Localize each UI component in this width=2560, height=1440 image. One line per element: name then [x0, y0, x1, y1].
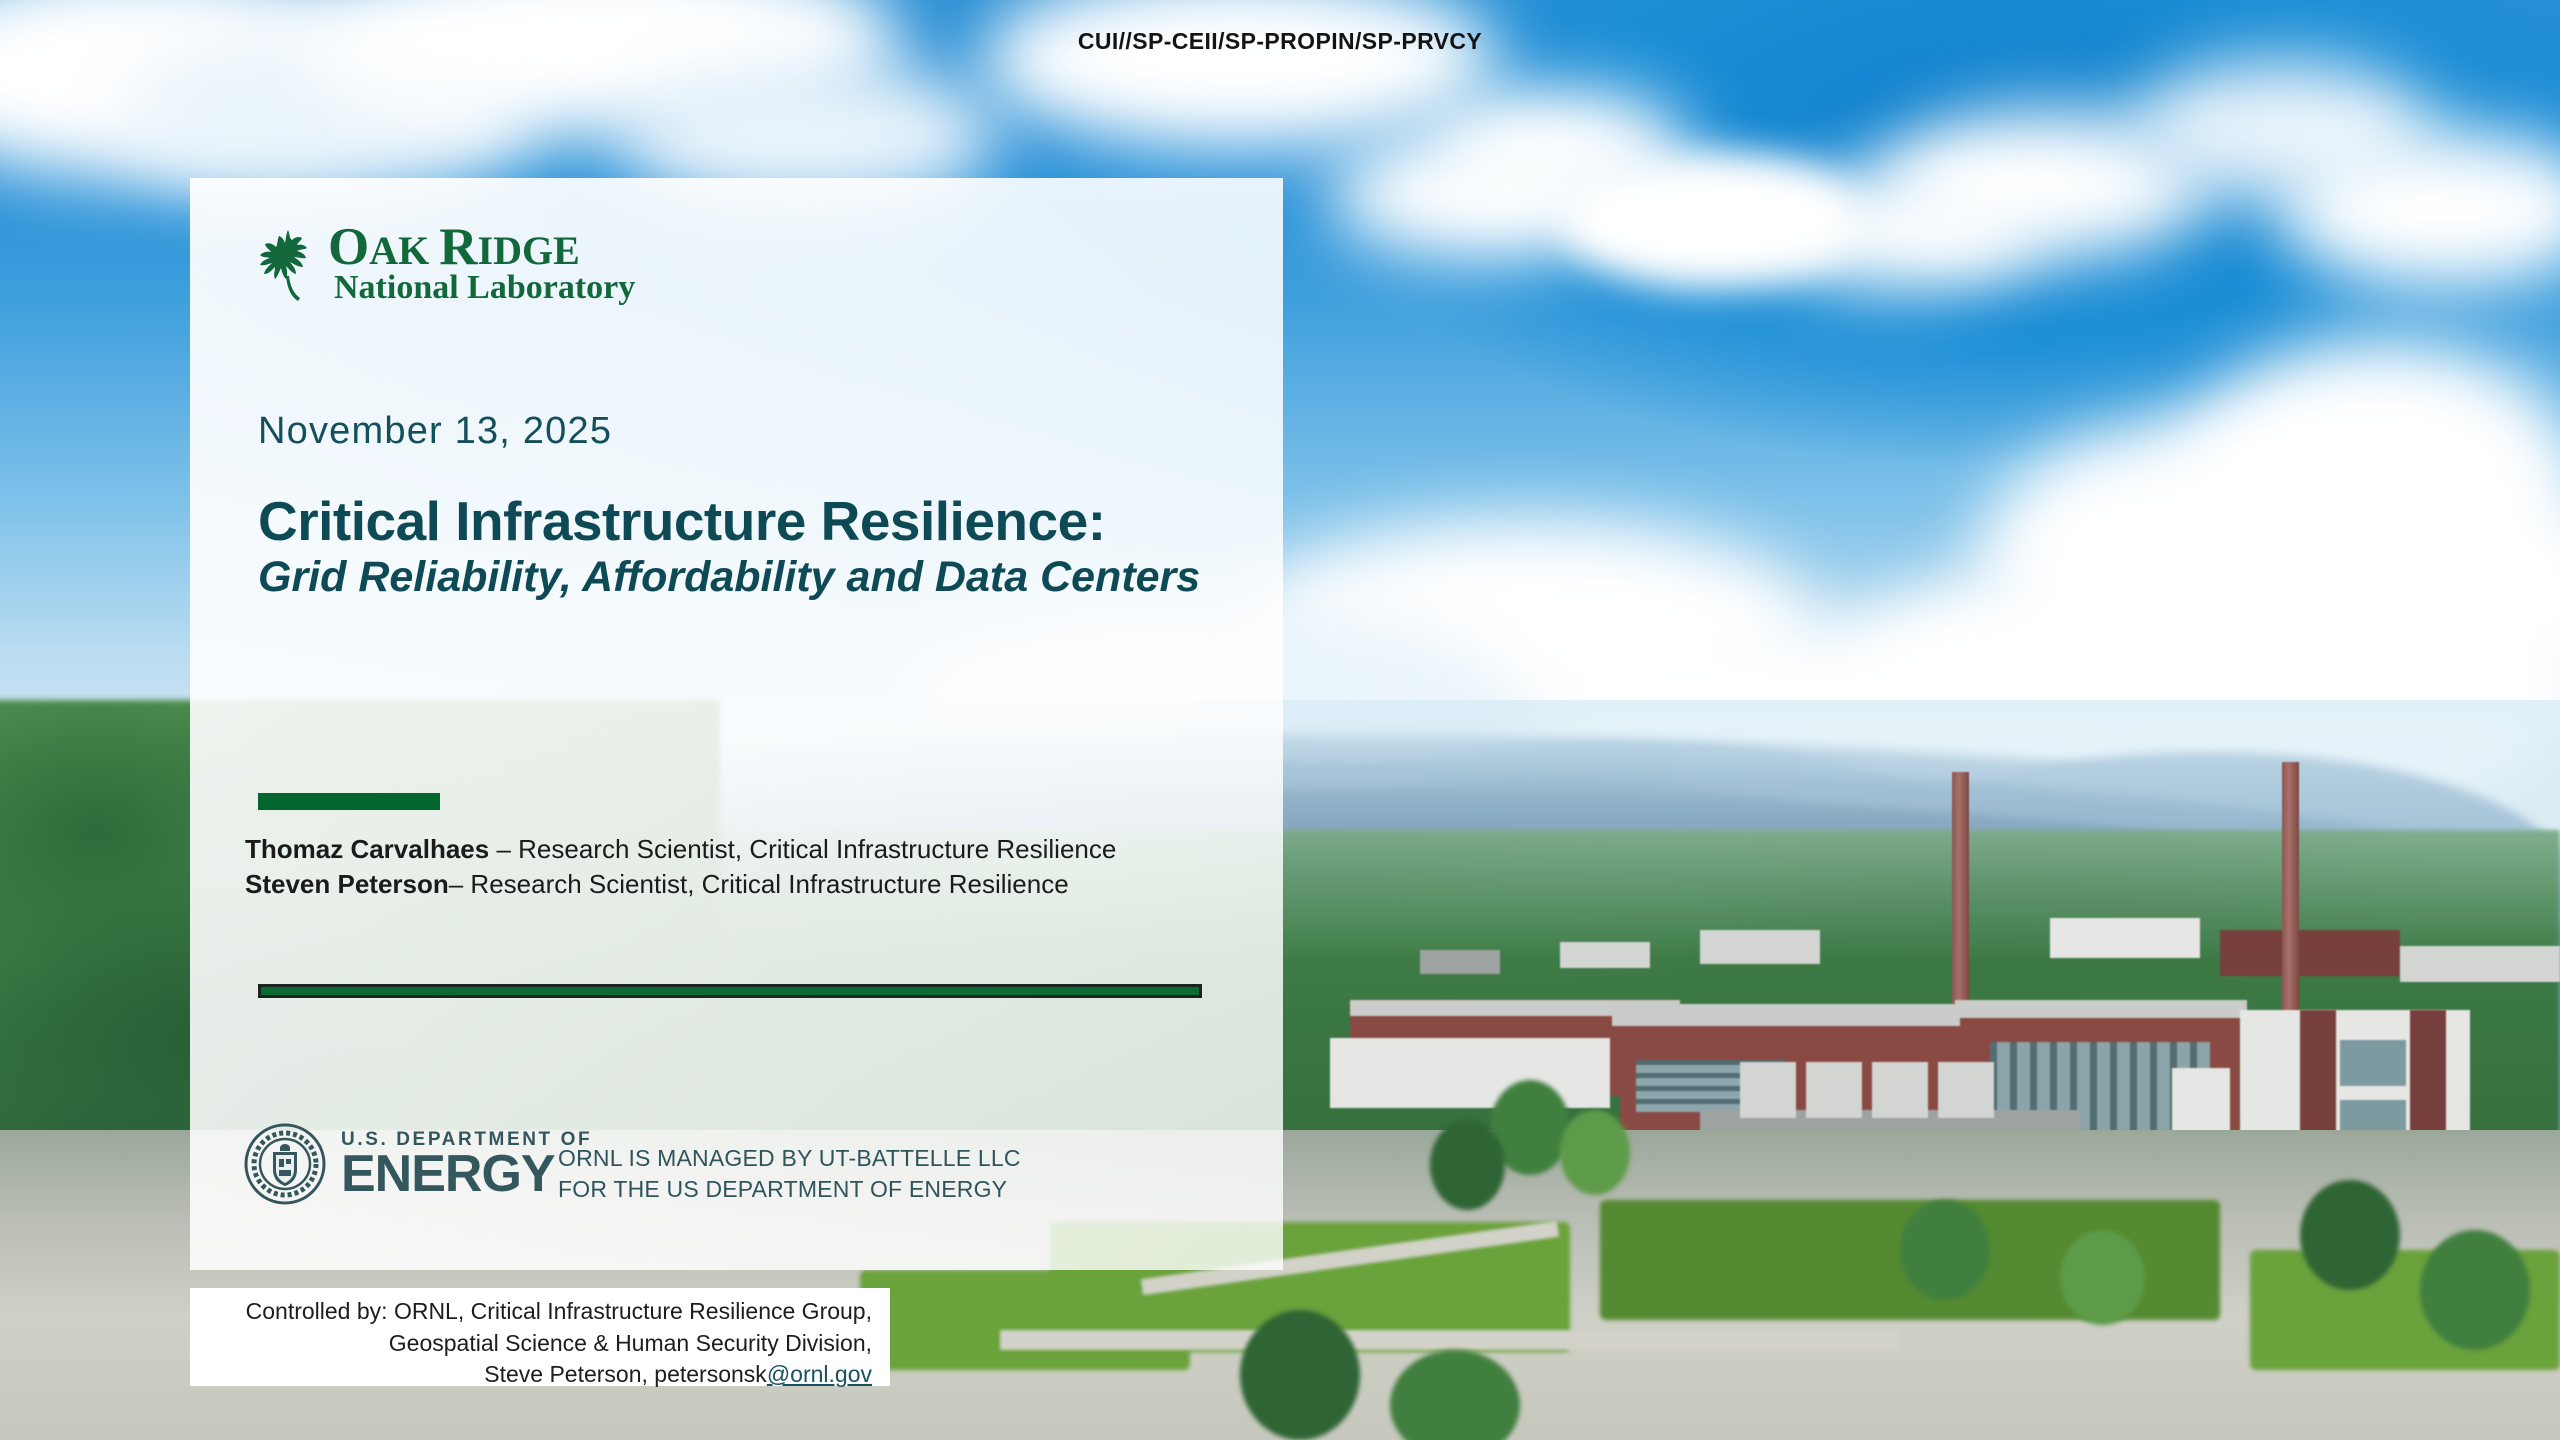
logo-national-laboratory: National Laboratory [334, 271, 635, 305]
slide-subtitle: Grid Reliability, Affordability and Data… [258, 554, 1200, 601]
controlled-by-line2: Geospatial Science & Human Security Divi… [246, 1328, 872, 1360]
distant-building [1420, 950, 1500, 974]
tree [2060, 1230, 2145, 1325]
distant-building [2220, 930, 2400, 976]
campus-building [1330, 1038, 1610, 1108]
tree [1240, 1310, 1360, 1440]
slide-date: November 13, 2025 [258, 410, 612, 453]
tree [1900, 1200, 1990, 1300]
campus-building-roof [1612, 1004, 2008, 1026]
author-line: Thomaz Carvalhaes – Research Scientist, … [245, 832, 1116, 867]
tree [2420, 1230, 2530, 1350]
slide-title: Critical Infrastructure Resilience: [258, 492, 1200, 550]
title-content-panel [190, 178, 1283, 1270]
walkway [1000, 1330, 1900, 1350]
managed-by-line1: ORNL IS MANAGED BY UT-BATTELLE LLC [558, 1143, 1021, 1174]
author-list: Thomaz Carvalhaes – Research Scientist, … [245, 832, 1116, 901]
author-role: – Research Scientist, Critical Infrastru… [449, 869, 1069, 899]
cooling-unit [1938, 1062, 1994, 1118]
author-name: Steven Peterson [245, 869, 449, 899]
classification-banner: CUI//SP-CEII/SP-PROPIN/SP-PRVCY [0, 28, 2560, 55]
doe-energy-label: ENERGY [341, 1151, 592, 1199]
presentation-slide: CUI//SP-CEII/SP-PROPIN/SP-PRVCY OAK RIDG… [0, 0, 2560, 1440]
distant-building [2050, 918, 2200, 958]
managed-by-text: ORNL IS MANAGED BY UT-BATTELLE LLC FOR T… [558, 1143, 1021, 1205]
author-line: Steven Peterson– Research Scientist, Cri… [245, 867, 1116, 902]
controlled-by-line1: Controlled by: ORNL, Critical Infrastruc… [246, 1296, 872, 1328]
campus-building-windows [2340, 1040, 2406, 1086]
campus-building-roof [1955, 1000, 2247, 1018]
logo-oak-ridge: OAK RIDGE [328, 222, 635, 273]
cooling-unit [1806, 1062, 1862, 1118]
controlled-by-text: Controlled by: ORNL, Critical Infrastruc… [246, 1296, 872, 1391]
distant-building [1700, 930, 1820, 964]
author-name: Thomaz Carvalhaes [245, 834, 489, 864]
doe-logo: U.S. DEPARTMENT OF ENERGY [243, 1122, 592, 1206]
doe-seal-icon [243, 1122, 327, 1206]
managed-by-line2: FOR THE US DEPARTMENT OF ENERGY [558, 1174, 1021, 1205]
green-divider-rule [258, 984, 1202, 998]
tree [1560, 1110, 1630, 1195]
contact-email-prefix: Steve Peterson, petersonsk [484, 1361, 767, 1387]
tree [2300, 1180, 2400, 1290]
cooling-unit [1740, 1062, 1796, 1118]
tree [1430, 1120, 1505, 1210]
author-role: – Research Scientist, Critical Infrastru… [489, 834, 1116, 864]
controlled-by-line3: Steve Peterson, petersonsk@ornl.gov [246, 1359, 872, 1391]
distant-building [1560, 942, 1650, 968]
contact-email-link[interactable]: @ornl.gov [767, 1361, 872, 1387]
title-block: Critical Infrastructure Resilience: Grid… [258, 492, 1200, 602]
ornl-logo: OAK RIDGE National Laboratory [258, 222, 635, 310]
green-accent-bar [258, 793, 440, 810]
distant-building [2400, 946, 2560, 982]
oak-leaf-icon [258, 228, 322, 310]
controlled-by-box: Controlled by: ORNL, Critical Infrastruc… [190, 1288, 890, 1386]
cooling-unit [1872, 1062, 1928, 1118]
lawn [860, 1270, 1190, 1370]
